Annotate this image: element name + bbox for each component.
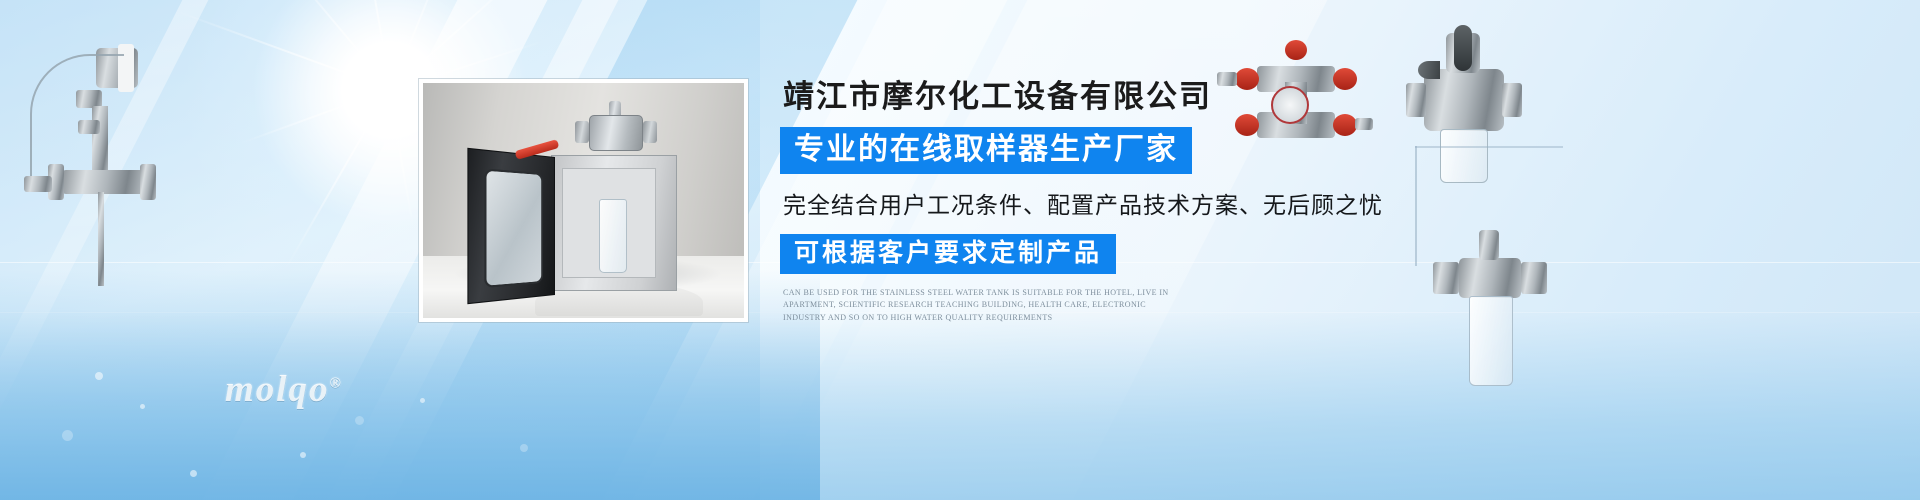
water-droplet-icon [355, 416, 364, 425]
gear-valve-illustration [1400, 25, 1530, 195]
product-photo [419, 79, 748, 322]
sun-ray-icon [239, 88, 390, 145]
description-line: 完全结合用户工况条件、配置产品技术方案、无后顾之忧 [780, 186, 1400, 220]
sun-ray-icon [283, 89, 390, 272]
sun-ray-icon [390, 0, 448, 91]
sun-ray-icon [174, 9, 391, 90]
valve-body [589, 115, 643, 151]
water-droplet-icon [95, 372, 103, 380]
water-droplet-icon [190, 470, 197, 477]
sampler-assembly-left-illustration [10, 20, 160, 310]
banner-text-block: 靖江市摩尔化工设备有限公司 专业的在线取样器生产厂家 完全结合用户工况条件、配置… [780, 78, 1400, 324]
logo-text: molqo [225, 369, 330, 410]
english-description: CAN BE USED FOR THE STAINLESS STEEL WATE… [780, 287, 1183, 324]
sample-bottle [599, 199, 627, 273]
valve-head-assembly [573, 101, 659, 161]
valve-flange [575, 121, 589, 143]
cabinet-interior [562, 168, 656, 278]
sun-ray-icon [357, 0, 392, 90]
sun-ray-icon [281, 0, 392, 90]
sun-ray-icon [388, 90, 414, 228]
water-droplet-icon [62, 430, 73, 441]
sampler-cabinet [551, 155, 677, 291]
headline-badge: 专业的在线取样器生产厂家 [780, 127, 1192, 175]
sampling-valve-illustration [1415, 228, 1565, 408]
water-droplet-icon [420, 398, 425, 403]
water-droplet-icon [140, 404, 145, 409]
registered-trademark-icon: ® [330, 376, 343, 392]
promotional-banner: 靖江市摩尔化工设备有限公司 专业的在线取样器生产厂家 完全结合用户工况条件、配置… [0, 0, 1920, 500]
custom-product-badge: 可根据客户要求定制产品 [780, 234, 1116, 274]
company-name: 靖江市摩尔化工设备有限公司 [780, 78, 1400, 117]
water-droplet-icon [300, 452, 306, 458]
watermark-logo: molqo® [225, 368, 343, 411]
valve-flange [643, 121, 657, 143]
cabinet-door [467, 148, 555, 304]
cabinet-door-window [484, 168, 543, 288]
sun-ray-icon [390, 0, 540, 91]
water-droplet-icon [520, 444, 528, 452]
